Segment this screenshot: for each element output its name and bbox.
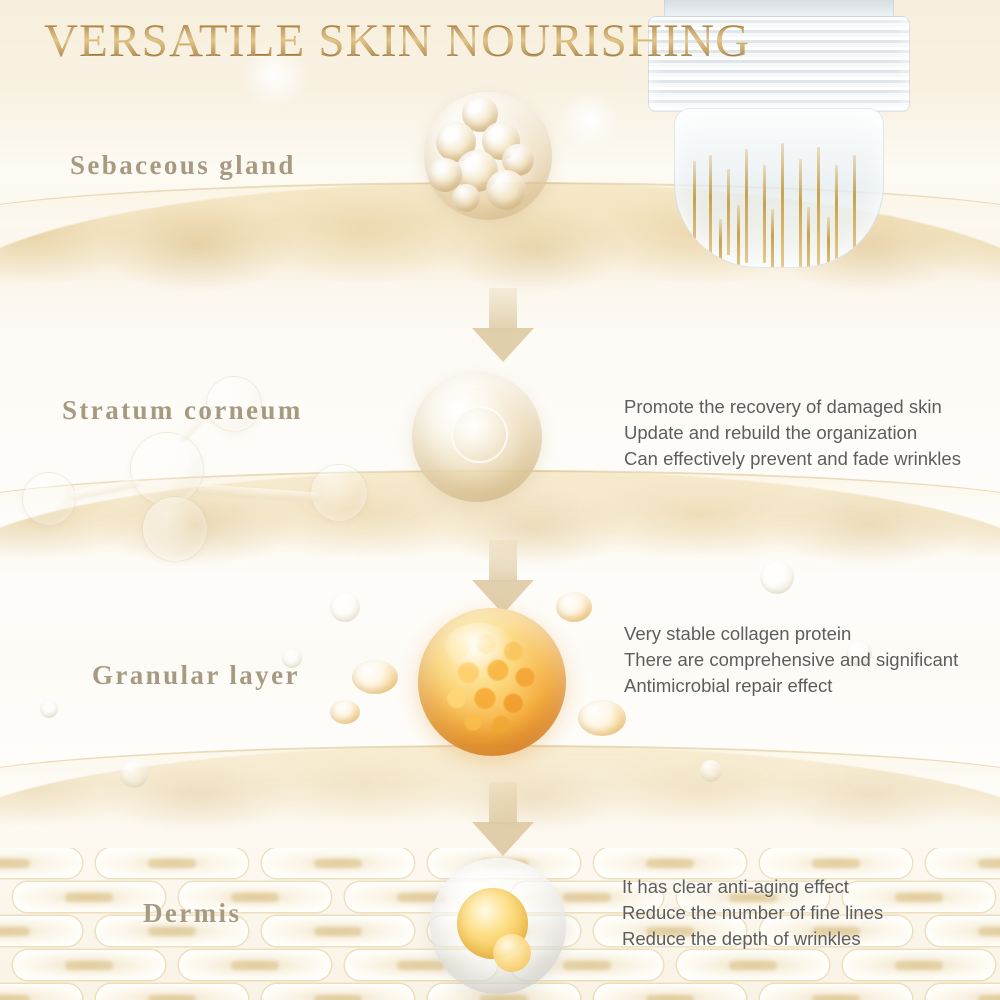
dermis-cell (179, 950, 331, 980)
description-line: There are comprehensive and significant (624, 647, 958, 673)
description-line: Reduce the number of fine lines (622, 900, 883, 926)
decorative-droplet (700, 760, 722, 782)
dermis-cell (594, 984, 746, 1000)
description-line: It has clear anti-aging effect (622, 874, 883, 900)
description-line: Promote the recovery of damaged skin (624, 394, 961, 420)
layer-label-stratum-corneum: Stratum corneum (62, 395, 303, 426)
decorative-droplet (760, 560, 794, 594)
decorative-droplet (40, 700, 58, 718)
sebaceous-bubble-cluster-icon (424, 92, 552, 220)
decorative-droplet (330, 592, 360, 622)
decorative-droplet (578, 700, 626, 736)
dermis-cell (926, 848, 1000, 878)
decorative-droplet (330, 700, 360, 724)
description-line: Update and rebuild the organization (624, 420, 961, 446)
dermis-cell (0, 848, 82, 878)
decorative-droplet (120, 760, 148, 788)
dermis-cell (760, 984, 912, 1000)
infographic-poster: VERSATILE SKIN NOURISHING Sebaceous glan… (0, 0, 1000, 1000)
skin-layer-band-granular (0, 745, 1000, 840)
device-barrel (674, 108, 884, 268)
stratum-corneum-sphere-icon (412, 372, 542, 502)
description-dermis: It has clear anti-aging effect Reduce th… (622, 874, 883, 952)
layer-label-sebaceous-gland: Sebaceous gland (70, 150, 296, 181)
granular-honeycomb-sphere-icon (418, 608, 566, 756)
dermis-cell (96, 984, 248, 1000)
description-stratum-corneum: Promote the recovery of damaged skin Upd… (624, 394, 961, 472)
decorative-sparkle (560, 90, 620, 150)
molecule-node (142, 496, 208, 562)
molecule-node (22, 472, 76, 526)
dermis-cell (926, 984, 1000, 1000)
dermis-cell (0, 984, 82, 1000)
description-granular-layer: Very stable collagen protein There are c… (624, 621, 958, 699)
molecule-node (130, 432, 204, 506)
molecule-bond (198, 484, 320, 501)
dermis-cell (262, 848, 414, 878)
description-line: Very stable collagen protein (624, 621, 958, 647)
layer-label-dermis: Dermis (143, 898, 241, 929)
page-title: VERSATILE SKIN NOURISHING (44, 14, 750, 68)
dermis-cell (843, 950, 995, 980)
molecule-node (310, 464, 368, 522)
dermis-cell (0, 916, 82, 946)
dermis-cell (13, 950, 165, 980)
dermis-cell (262, 984, 414, 1000)
layer-label-granular-layer: Granular layer (92, 660, 300, 691)
dermis-cell (677, 950, 829, 980)
dermis-clear-sphere-icon (430, 858, 566, 994)
dermis-cell (926, 916, 1000, 946)
dermis-cell (96, 848, 248, 878)
description-line: Reduce the depth of wrinkles (622, 926, 883, 952)
molecule-bond (69, 478, 139, 501)
description-line: Antimicrobial repair effect (624, 673, 958, 699)
description-line: Can effectively prevent and fade wrinkle… (624, 446, 961, 472)
decorative-droplet (352, 660, 398, 694)
decorative-droplet (556, 592, 592, 622)
dermis-cell (262, 916, 414, 946)
